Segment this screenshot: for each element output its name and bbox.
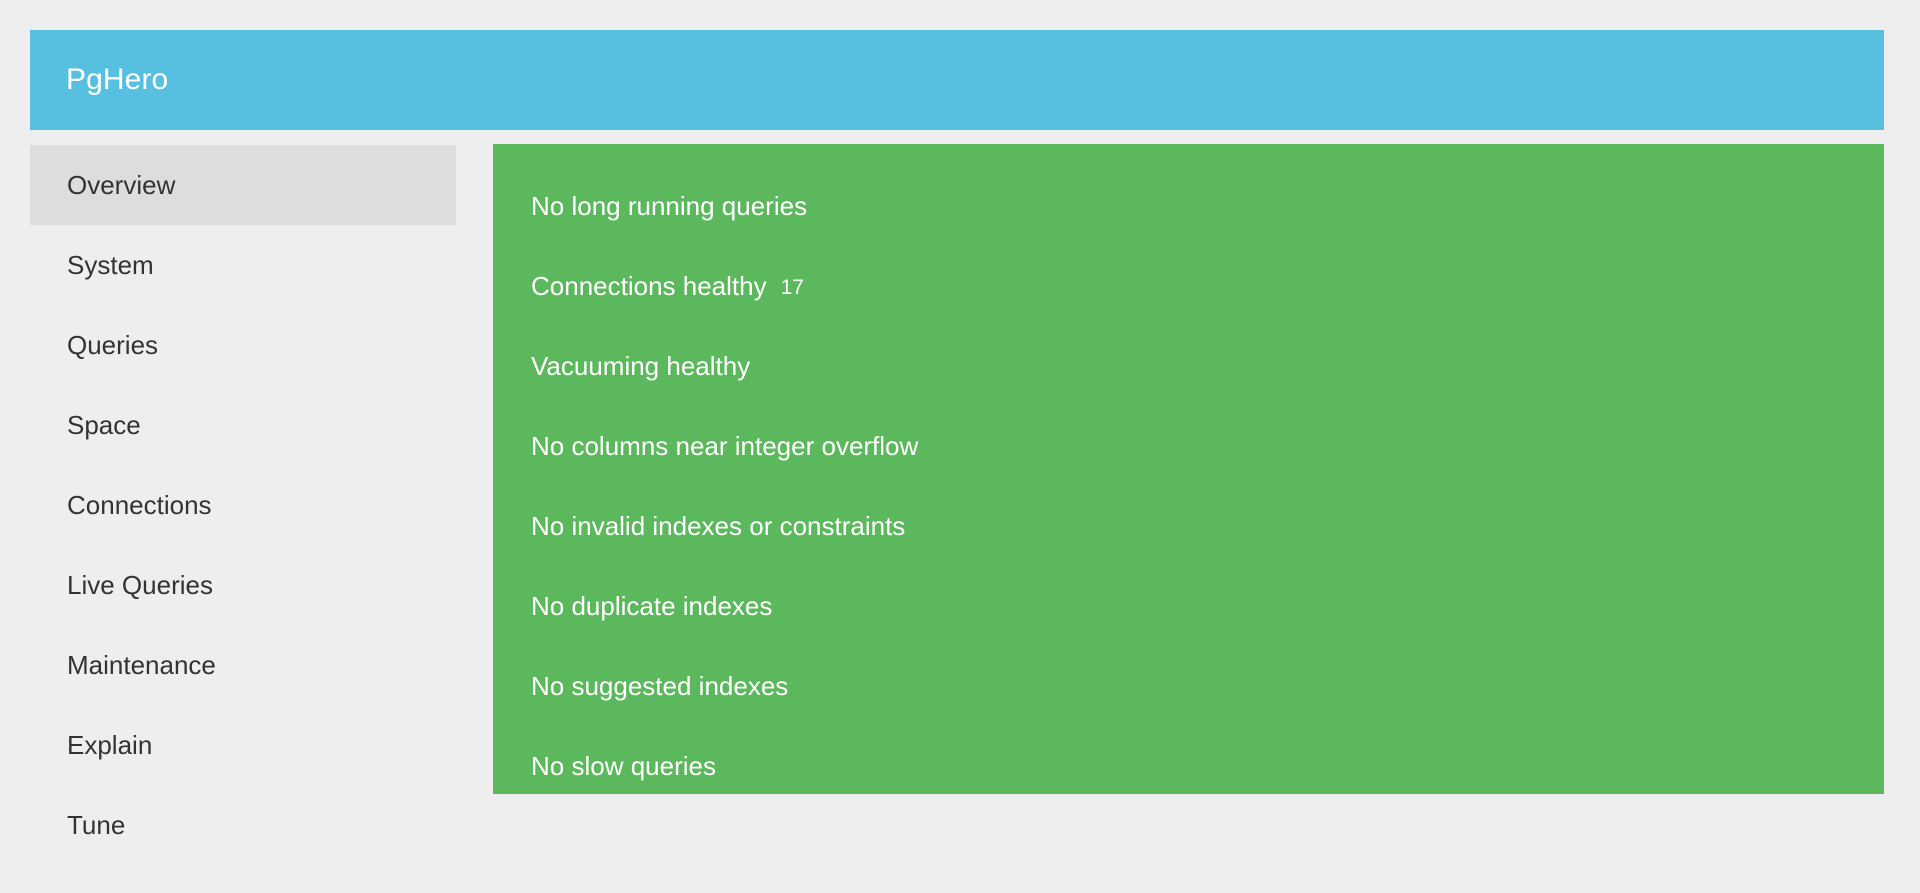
status-row[interactable]: No invalid indexes or constraints — [493, 486, 1884, 566]
status-row[interactable]: Connections healthy17 — [493, 246, 1884, 326]
status-row[interactable]: No suggested indexes — [493, 646, 1884, 726]
status-label: No duplicate indexes — [531, 591, 772, 621]
status-label: Connections healthy — [531, 271, 767, 301]
sidebar-item-tune[interactable]: Tune — [30, 785, 456, 865]
app-root: PgHero Overview System Queries Space Con… — [0, 0, 1920, 893]
status-label: No long running queries — [531, 191, 807, 221]
status-label: No invalid indexes or constraints — [531, 511, 905, 541]
sidebar-item-system[interactable]: System — [30, 225, 456, 305]
status-row[interactable]: No duplicate indexes — [493, 566, 1884, 646]
sidebar-item-connections[interactable]: Connections — [30, 465, 456, 545]
brand-logo[interactable]: PgHero — [30, 65, 168, 95]
status-label: No slow queries — [531, 751, 716, 781]
sidebar-item-live-queries[interactable]: Live Queries — [30, 545, 456, 625]
top-navbar: PgHero — [30, 30, 1884, 130]
sidebar-nav: Overview System Queries Space Connection… — [30, 145, 456, 865]
sidebar-item-explain[interactable]: Explain — [30, 705, 456, 785]
content-area: Overview System Queries Space Connection… — [0, 143, 1920, 893]
status-row[interactable]: Vacuuming healthy — [493, 326, 1884, 406]
status-label: No columns near integer overflow — [531, 431, 918, 461]
status-label: Vacuuming healthy — [531, 351, 750, 381]
sidebar-item-space[interactable]: Space — [30, 385, 456, 465]
status-label: No suggested indexes — [531, 671, 788, 701]
sidebar-item-maintenance[interactable]: Maintenance — [30, 625, 456, 705]
status-panel: No long running queries Connections heal… — [493, 144, 1884, 794]
status-row[interactable]: No columns near integer overflow — [493, 406, 1884, 486]
status-count: 17 — [781, 276, 804, 299]
status-row[interactable]: No long running queries — [493, 166, 1884, 246]
sidebar-item-overview[interactable]: Overview — [30, 145, 456, 225]
status-row[interactable]: No slow queries — [493, 726, 1884, 806]
sidebar-item-queries[interactable]: Queries — [30, 305, 456, 385]
